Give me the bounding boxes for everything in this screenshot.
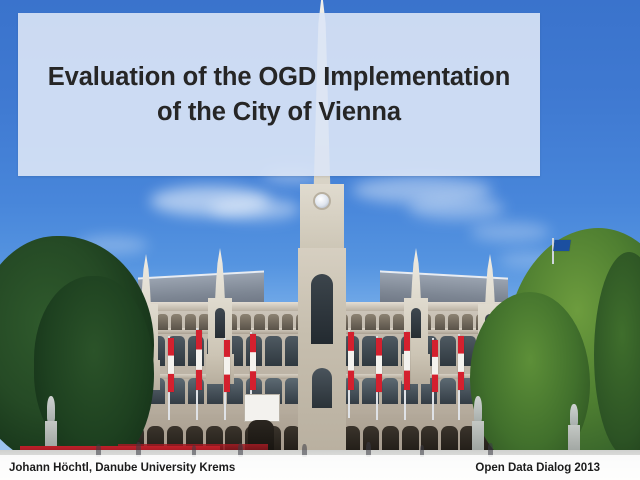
title-line-1: Evaluation of the OGD Implementation [48, 63, 511, 91]
presentation-slide: Evaluation of the OGD Implementation of … [0, 0, 640, 480]
eu-flag-icon [553, 240, 571, 251]
notice-board [244, 394, 280, 422]
cloud-icon [210, 198, 300, 220]
clock-icon [313, 192, 331, 210]
statue-far-right [566, 404, 582, 456]
tower-window-upper [311, 274, 333, 344]
cloud-icon [408, 196, 504, 220]
tower-window-lower [312, 368, 332, 408]
slide-footer: Johann Höchtl, Danube University Krems O… [0, 455, 640, 480]
statue-left [44, 396, 58, 452]
title-box: Evaluation of the OGD Implementation of … [18, 13, 540, 176]
statue-right [470, 396, 486, 454]
title-line-2: of the City of Vienna [32, 95, 526, 130]
footer-event: Open Data Dialog 2013 [475, 462, 631, 474]
footer-presenter: Johann Höchtl, Danube University Krems [9, 462, 235, 474]
page-title: Evaluation of the OGD Implementation of … [18, 60, 540, 130]
